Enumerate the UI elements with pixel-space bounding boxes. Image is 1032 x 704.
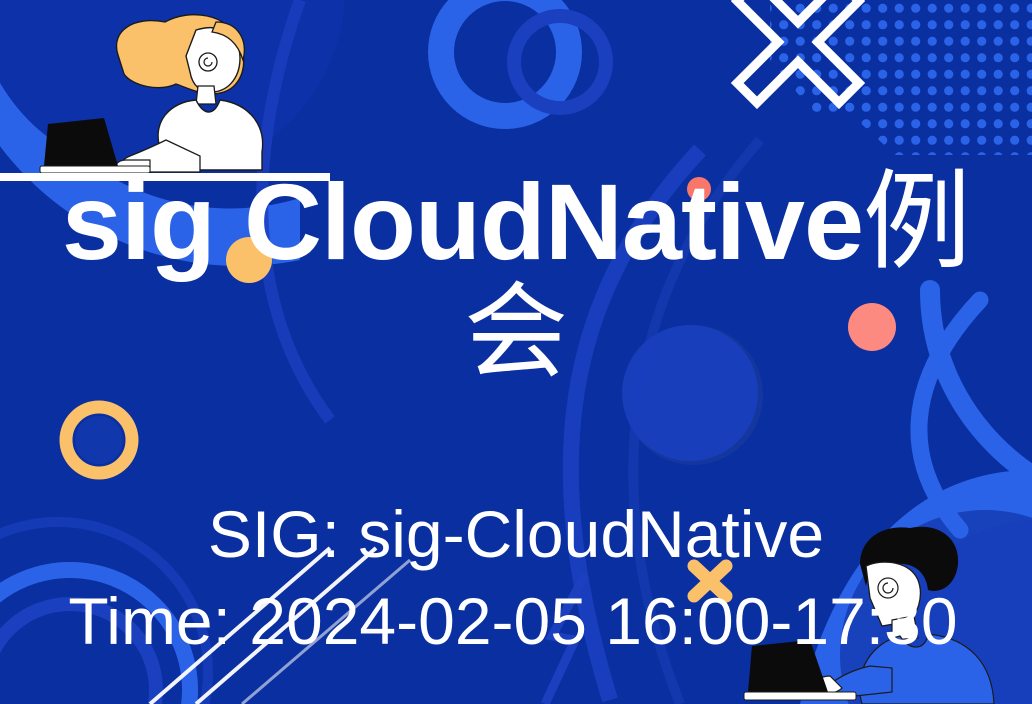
- meta-block: SIG: sig-CloudNative Time: 2024-02-05 16…: [0, 490, 1032, 664]
- event-banner: sig CloudNative例 会 SIG: sig-CloudNative …: [0, 0, 1032, 704]
- title-latin: sig CloudNative: [62, 161, 863, 282]
- title-line-1: sig CloudNative例: [0, 168, 1032, 278]
- time-line: Time: 2024-02-05 16:00-17:30: [0, 578, 1032, 664]
- title-cjk-char: 例: [863, 164, 970, 283]
- title-block: sig CloudNative例 会: [0, 168, 1032, 390]
- sig-name-line: SIG: sig-CloudNative: [0, 490, 1032, 578]
- title-line-2: 会: [0, 278, 1032, 390]
- text-layer: sig CloudNative例 会 SIG: sig-CloudNative …: [0, 0, 1032, 704]
